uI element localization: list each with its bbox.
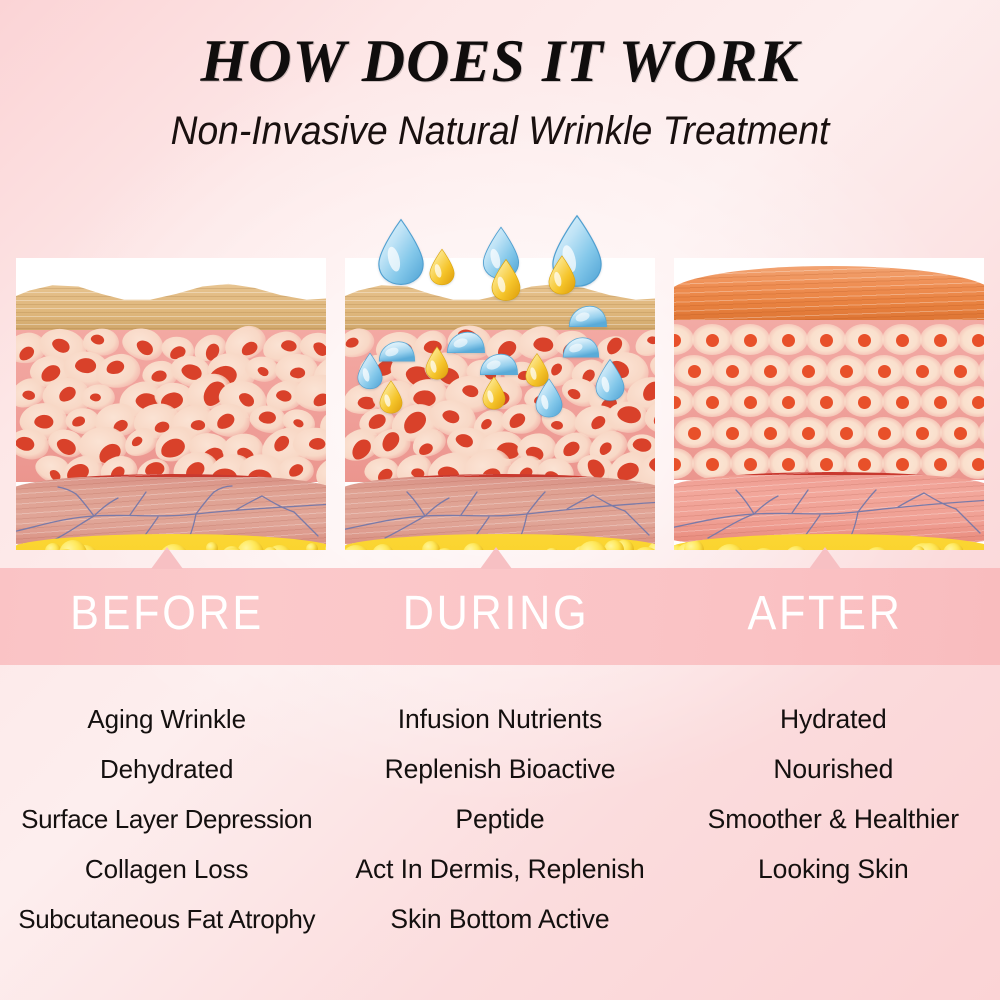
skin-cross-section-during xyxy=(345,258,655,550)
dermis-cell xyxy=(806,386,846,417)
cell-nucleus xyxy=(674,458,681,471)
dermis-cell xyxy=(788,355,828,386)
cell-nucleus xyxy=(71,416,86,428)
dermis-cell xyxy=(674,355,714,386)
cell-nucleus xyxy=(22,389,37,402)
dermis-cell xyxy=(788,417,828,448)
benefit-item: Dehydrated xyxy=(0,744,333,794)
cell-nucleus xyxy=(17,345,37,363)
cell-nucleus xyxy=(954,365,967,378)
droplet-overlay xyxy=(339,204,665,564)
dermis-cell xyxy=(712,355,752,386)
cell-nucleus xyxy=(34,412,55,429)
cell-nucleus xyxy=(90,393,102,403)
cell-nucleus xyxy=(896,334,909,347)
dermis-cell xyxy=(940,417,980,448)
dermis-cell xyxy=(902,355,942,386)
cell-nucleus xyxy=(858,458,871,471)
cell-nucleus xyxy=(50,335,72,356)
dermis-layer xyxy=(16,330,326,482)
oil-droplet-icon xyxy=(379,380,403,419)
cell-nucleus xyxy=(782,396,795,409)
dermis-cell xyxy=(864,355,904,386)
cell-nucleus xyxy=(256,364,270,377)
cell-nucleus xyxy=(271,434,292,455)
benefit-item: Act In Dermis, Replenish xyxy=(333,844,666,894)
stage-pointer-before-icon xyxy=(151,547,183,569)
cell-nucleus xyxy=(972,458,984,471)
cell-nucleus xyxy=(57,384,79,404)
benefit-item: Replenish Bioactive xyxy=(333,744,666,794)
cell-nucleus xyxy=(840,427,853,440)
cell-nucleus xyxy=(674,334,681,347)
cell-nucleus xyxy=(802,365,815,378)
cell-nucleus xyxy=(258,410,277,425)
cell-nucleus xyxy=(764,365,777,378)
dermis-cell xyxy=(674,448,694,479)
water-droplet-icon xyxy=(377,218,425,291)
dermis-cell xyxy=(674,386,694,417)
epidermis-smooth-layer xyxy=(674,266,984,328)
cell-nucleus xyxy=(311,339,326,358)
cell-nucleus xyxy=(934,458,947,471)
benefit-item: Surface Layer Depression xyxy=(0,794,333,844)
fat-globule xyxy=(237,540,264,550)
benefit-item: Collagen Loss xyxy=(0,844,333,894)
dermis-cell xyxy=(730,386,770,417)
cell-nucleus xyxy=(287,462,306,479)
page-header: HOW DOES IT WORK Non-Invasive Natural Wr… xyxy=(0,0,1000,154)
stage-label-during: DURING xyxy=(348,590,645,638)
cell-nucleus xyxy=(934,334,947,347)
fat-globule xyxy=(715,544,746,550)
dermis-cell xyxy=(978,417,984,448)
benefit-item: Smoother & Healthier xyxy=(667,794,1000,844)
dermis-cell xyxy=(750,355,790,386)
cell-nucleus xyxy=(820,334,833,347)
cell-nucleus xyxy=(191,419,206,431)
benefit-item: Subcutaneous Fat Atrophy xyxy=(0,894,333,944)
dermis-cell xyxy=(844,324,884,355)
absorbed-water-droplet-icon xyxy=(567,304,609,335)
dermis-cell xyxy=(712,417,752,448)
benefit-columns: Aging WrinkleDehydratedSurface Layer Dep… xyxy=(0,694,1000,954)
dermis-cell xyxy=(864,417,904,448)
cell-nucleus xyxy=(90,333,106,347)
dermis-cell xyxy=(920,386,960,417)
cell-nucleus xyxy=(878,365,891,378)
dermis-cell xyxy=(806,324,846,355)
dermis-cell xyxy=(674,417,714,448)
cell-nucleus xyxy=(674,396,681,409)
cell-nucleus xyxy=(744,396,757,409)
cell-nucleus xyxy=(129,436,143,449)
dermis-cell xyxy=(768,324,808,355)
stage-banner: BEFORE DURING AFTER xyxy=(0,568,1000,665)
oil-droplet-icon xyxy=(548,254,576,301)
cell-nucleus xyxy=(134,337,155,358)
stage-pointer-after-icon xyxy=(809,547,841,569)
cell-nucleus xyxy=(896,458,909,471)
dermis-cell xyxy=(750,417,790,448)
illustration-panels xyxy=(0,206,1000,556)
cell-nucleus xyxy=(916,427,929,440)
dermis-layer xyxy=(674,320,984,480)
page-title: HOW DOES IT WORK xyxy=(0,26,1000,97)
cell-nucleus xyxy=(726,365,739,378)
cell-nucleus xyxy=(688,365,701,378)
oil-droplet-icon xyxy=(429,248,455,291)
cell-nucleus xyxy=(280,338,298,353)
dermis-cell xyxy=(674,324,694,355)
cell-nucleus xyxy=(75,355,98,374)
dermis-cell xyxy=(826,417,866,448)
cell-nucleus xyxy=(275,388,293,404)
cell-nucleus xyxy=(744,458,757,471)
benefit-item: Aging Wrinkle xyxy=(0,694,333,744)
cell-nucleus xyxy=(16,435,36,454)
cell-nucleus xyxy=(896,396,909,409)
cell-nucleus xyxy=(688,427,701,440)
dermis-cell xyxy=(958,324,984,355)
benefit-column-before: Aging WrinkleDehydratedSurface Layer Dep… xyxy=(0,694,333,954)
skin-cross-section-before xyxy=(16,258,326,550)
cell-nucleus xyxy=(54,434,79,458)
cell-nucleus xyxy=(150,370,166,382)
fat-globule xyxy=(750,548,778,550)
dermis-cell xyxy=(958,386,984,417)
dermis-cell xyxy=(902,417,942,448)
dermis-cell xyxy=(958,448,984,479)
cell-nucleus xyxy=(820,396,833,409)
dermis-cell xyxy=(768,386,808,417)
cell-nucleus xyxy=(782,458,795,471)
oil-droplet-icon xyxy=(482,376,506,415)
dermis-cell xyxy=(844,386,884,417)
benefit-item: Skin Bottom Active xyxy=(333,894,666,944)
dermis-cell xyxy=(692,448,732,479)
dermis-cell-field xyxy=(16,330,326,482)
cell-nucleus xyxy=(858,334,871,347)
stage-label-before: BEFORE xyxy=(19,590,316,638)
absorbed-water-droplet-icon xyxy=(377,340,417,369)
fat-globule xyxy=(785,546,808,550)
cell-nucleus xyxy=(934,396,947,409)
benefit-item: Looking Skin xyxy=(667,844,1000,894)
fat-globule xyxy=(943,543,964,550)
cell-nucleus xyxy=(878,427,891,440)
cell-nucleus xyxy=(309,437,326,451)
benefit-item: Peptide xyxy=(333,794,666,844)
dermis-cell xyxy=(882,324,922,355)
cell-nucleus xyxy=(706,458,719,471)
dermis-cell xyxy=(826,355,866,386)
dermis-cell xyxy=(940,355,980,386)
cell-nucleus xyxy=(706,334,719,347)
oil-droplet-icon xyxy=(425,346,449,385)
cell-nucleus xyxy=(840,365,853,378)
dermis-cell xyxy=(730,324,770,355)
cell-nucleus xyxy=(820,458,833,471)
cell-nucleus xyxy=(972,396,984,409)
cell-nucleus xyxy=(744,334,757,347)
dermis-cell xyxy=(692,386,732,417)
benefit-item: Infusion Nutrients xyxy=(333,694,666,744)
skin-cross-section-after xyxy=(674,258,984,550)
benefit-item: Hydrated xyxy=(667,694,1000,744)
cell-nucleus xyxy=(916,365,929,378)
cell-nucleus xyxy=(289,367,305,379)
cell-nucleus xyxy=(312,392,326,408)
dermis-cell xyxy=(978,355,984,386)
benefit-column-after: HydratedNourishedSmoother & HealthierLoo… xyxy=(667,694,1000,954)
benefit-column-during: Infusion NutrientsReplenish BioactivePep… xyxy=(333,694,666,954)
dermis-cell xyxy=(692,324,732,355)
cell-nucleus xyxy=(726,427,739,440)
cell-nucleus xyxy=(106,360,126,376)
fat-globule xyxy=(206,542,219,550)
dermis-cell xyxy=(882,386,922,417)
dermis-cell xyxy=(920,324,960,355)
fat-globule xyxy=(684,540,705,550)
dermis-cell-field xyxy=(674,320,984,480)
oil-droplet-icon xyxy=(491,258,521,307)
cell-nucleus xyxy=(972,334,984,347)
stage-label-after: AFTER xyxy=(677,590,974,638)
cell-nucleus xyxy=(858,396,871,409)
cell-nucleus xyxy=(215,411,238,431)
cell-nucleus xyxy=(706,396,719,409)
fat-globule xyxy=(306,543,318,550)
cell-nucleus xyxy=(802,427,815,440)
cell-nucleus xyxy=(782,334,795,347)
water-droplet-icon xyxy=(595,358,625,407)
water-droplet-icon xyxy=(535,378,563,423)
stage-pointer-during-icon xyxy=(480,547,512,569)
page-subtitle: Non-Invasive Natural Wrinkle Treatment xyxy=(35,109,965,154)
benefit-item: Nourished xyxy=(667,744,1000,794)
cell-nucleus xyxy=(954,427,967,440)
cell-nucleus xyxy=(764,427,777,440)
